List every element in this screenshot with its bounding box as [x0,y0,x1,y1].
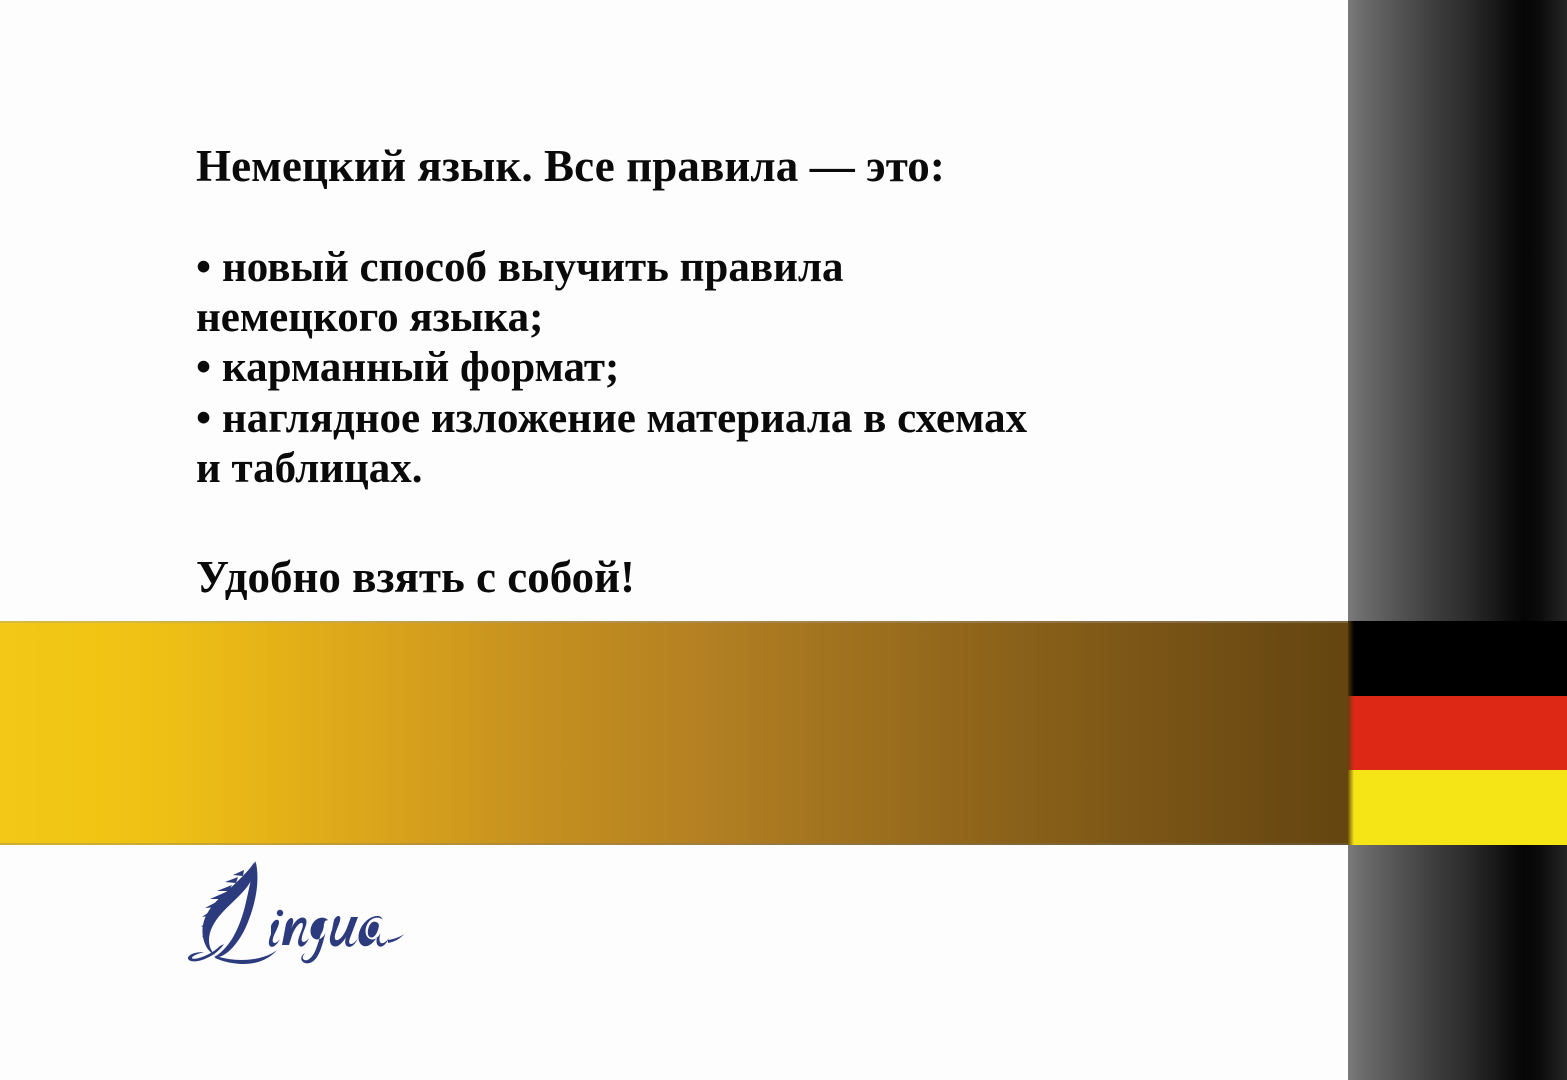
flag-stripe-black [1348,621,1567,696]
bullet-marker-icon: • [196,394,222,444]
gray-gradient-column [1348,0,1567,1080]
gold-band-bottom-edge [0,843,1348,845]
list-item: •карманный формат; [196,343,1256,393]
list-item: •новый способ выучить правила немецкого … [196,243,1256,344]
bullet-marker-icon: • [196,243,222,293]
cover-text-block: Немецкий язык. Все правила — это: •новый… [196,143,1256,602]
benefits-list: •новый способ выучить правила немецкого … [196,243,1256,494]
page-title: Немецкий язык. Все правила — это: [196,143,1256,191]
quill-feather-icon [188,861,277,964]
list-item: •наглядное изложение материала в схемах … [196,394,1256,495]
lingua-logo-svg [176,858,426,978]
spacer-before-closing [196,494,1256,554]
flag-stripe-yellow [1348,770,1567,845]
lingua-logo [176,858,426,978]
list-item-text: новый способ выучить правила [222,244,843,291]
list-item-text: наглядное изложение материала в схемах [222,395,1027,442]
gold-gradient-band [0,621,1348,845]
cover-page: Немецкий язык. Все правила — это: •новый… [0,0,1567,1080]
lingua-wordmark [269,910,404,964]
german-flag [1348,621,1567,845]
gold-band-top-edge [0,621,1348,623]
list-item-text-continued: немецкого языка; [196,293,1256,343]
list-item-text-continued: и таблицах. [196,444,1256,494]
closing-statement: Удобно взять с собой! [196,554,1256,602]
spacer-after-title [196,191,1256,243]
bullet-marker-icon: • [196,343,222,393]
list-item-text: карманный формат; [222,344,619,391]
flag-stripe-red [1348,696,1567,770]
